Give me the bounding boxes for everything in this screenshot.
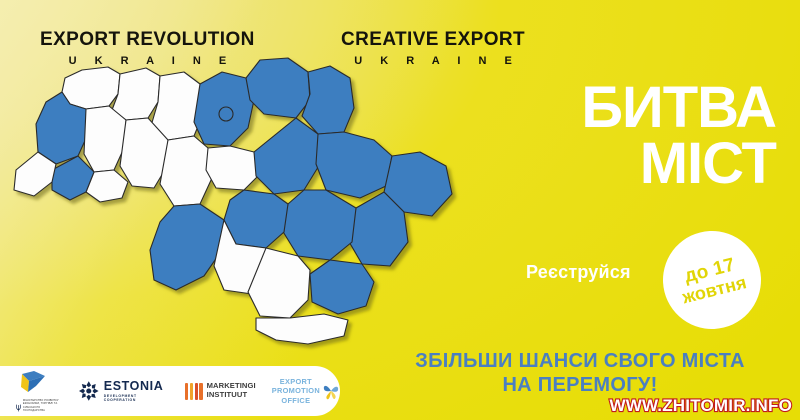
map-region-ternopil[interactable]	[84, 106, 126, 172]
poster-canvas: EXPORT REVOLUTION U K R A I N E CREATIVE…	[0, 0, 800, 420]
ukraine-map	[8, 52, 488, 344]
epo-name-line1: EXPORT	[272, 377, 320, 387]
epo-name-line2: PROMOTION	[272, 386, 320, 396]
map-region-zaporizhzhia[interactable]	[310, 260, 374, 314]
deadline-badge: до 17 жовтня	[653, 221, 772, 340]
page-title: БИТВА МІСТ	[581, 82, 776, 190]
logo-estonia[interactable]: ESTONIA DEVELOPMENT COOPERATION	[78, 380, 169, 402]
tagline: ЗБІЛЬШИ ШАНСИ СВОГО МІСТА НА ПЕРЕМОГУ!	[370, 350, 790, 397]
estonia-text: ESTONIA DEVELOPMENT COOPERATION	[104, 380, 169, 402]
map-region-volyn[interactable]	[62, 67, 120, 109]
epo-text: EXPORT PROMOTION OFFICE	[272, 377, 320, 406]
map-region-sumy[interactable]	[302, 66, 354, 134]
register-label[interactable]: Реєструйся	[526, 262, 631, 283]
ministry-icon	[16, 370, 46, 396]
map-region-crimea[interactable]	[256, 314, 348, 344]
epo-butterfly-icon	[322, 380, 340, 402]
map-region-dnipropetrovsk[interactable]	[282, 190, 356, 260]
tagline-line1: ЗБІЛЬШИ ШАНСИ СВОГО МІСТА	[370, 350, 790, 374]
map-region-poltava[interactable]	[254, 118, 320, 194]
ministry-caption-row: МІНІСТЕРСТВО РОЗВИТКУ ЕКОНОМІКИ, ТОРГІВЛ…	[16, 398, 62, 412]
epo-name-line3: OFFICE	[272, 396, 320, 406]
trident-icon	[16, 404, 21, 412]
page-title-line2: МІСТ	[581, 138, 776, 190]
ministry-caption-line3: СІЛЬСЬКОГО ГОСПОДАРСТВА	[23, 406, 62, 412]
ministry-caption: МІНІСТЕРСТВО РОЗВИТКУ ЕКОНОМІКИ, ТОРГІВЛ…	[23, 399, 62, 412]
partner-logo-bar: МІНІСТЕРСТВО РОЗВИТКУ ЕКОНОМІКИ, ТОРГІВЛ…	[0, 366, 340, 416]
marketingi-name-line2: INSTITUUT	[207, 391, 256, 400]
tagline-line2: НА ПЕРЕМОГУ!	[370, 374, 790, 398]
estonia-name: ESTONIA	[104, 380, 169, 393]
brand-creative-export-name: CREATIVE EXPORT	[341, 30, 525, 49]
logo-ministry-of-ukraine[interactable]: МІНІСТЕРСТВО РОЗВИТКУ ЕКОНОМІКИ, ТОРГІВЛ…	[16, 370, 62, 412]
ministry-flag-mark	[16, 370, 46, 396]
map-region-odesa[interactable]	[150, 204, 224, 290]
marketingi-bars-icon	[185, 383, 203, 400]
logo-export-promotion-office[interactable]: EXPORT PROMOTION OFFICE	[272, 377, 340, 406]
map-region-chernihiv[interactable]	[246, 58, 310, 118]
site-watermark: WWW.ZHITOMIR.INFO	[610, 396, 793, 416]
estonia-cornflower-icon	[78, 380, 100, 402]
page-title-line1: БИТВА	[581, 82, 776, 134]
estonia-subtitle: DEVELOPMENT COOPERATION	[104, 395, 169, 402]
map-region-cherkasy[interactable]	[206, 146, 260, 190]
marketingi-text: MARKETINGI INSTITUUT	[207, 382, 256, 400]
map-region-kharkiv[interactable]	[316, 132, 392, 198]
brand-export-revolution-name: EXPORT REVOLUTION	[40, 30, 255, 49]
logo-marketingi-instituut[interactable]: MARKETINGI INSTITUUT	[185, 382, 256, 400]
map-city-kyiv[interactable]	[219, 107, 233, 121]
map-region-vinnytsia[interactable]	[160, 136, 212, 206]
